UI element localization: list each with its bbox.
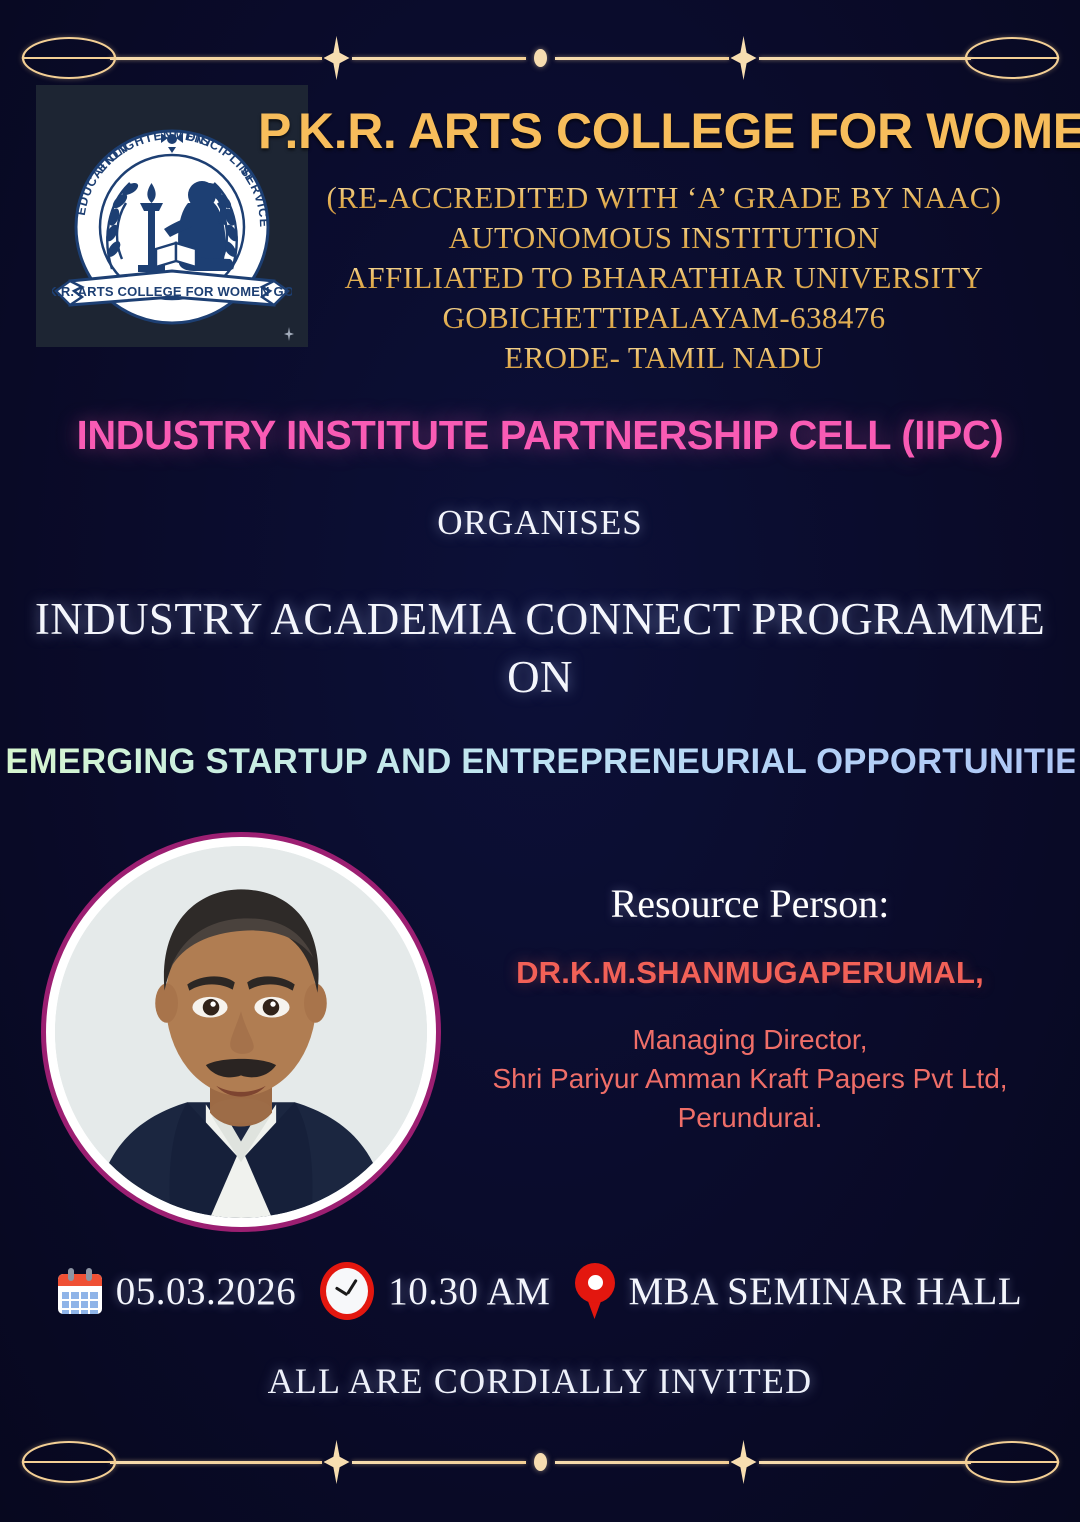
- resource-person-name: DR.K.M.SHANMUGAPERUMAL,: [460, 955, 1040, 991]
- resource-person-details: Managing Director, Shri Pariyur Amman Kr…: [452, 1020, 1048, 1137]
- portrait-illustration: [55, 846, 427, 1218]
- calendar-ring-right: [86, 1268, 92, 1281]
- college-subtitle-line: AUTONOMOUS INSTITUTION: [258, 218, 1070, 258]
- location-pin-icon: [575, 1263, 615, 1319]
- clock-icon: [320, 1262, 374, 1320]
- ornament-line: [759, 1461, 971, 1464]
- calendar-icon: [58, 1268, 102, 1314]
- bottom-ornament-divider: [0, 1432, 1080, 1492]
- event-date-item: 05.03.2026: [58, 1268, 297, 1314]
- ornament-line: [555, 57, 729, 60]
- programme-title-line1: INDUSTRY ACADEMIA CONNECT PROGRAMME: [0, 590, 1080, 648]
- college-subtitle-line: AFFILIATED TO BHARATHIAR UNIVERSITY: [258, 258, 1070, 298]
- ornament-leaf-icon: [964, 1441, 1058, 1483]
- ornament-line: [110, 1461, 322, 1464]
- invitation-text: ALL ARE CORDIALLY INVITED: [0, 1360, 1080, 1402]
- photo-white-ring: [46, 837, 436, 1227]
- avatar: [55, 846, 427, 1218]
- event-details-row: 05.03.2026 10.30 AM MBA SEMINAR HALL: [0, 1262, 1080, 1320]
- ornament-line: [555, 1461, 729, 1464]
- programme-topic: EMERGING STARTUP AND ENTREPRENEURIAL OPP…: [5, 742, 1074, 782]
- calendar-ring-left: [68, 1268, 74, 1281]
- svg-text:P.K.R. ARTS COLLEGE FOR WOMEN: P.K.R. ARTS COLLEGE FOR WOMEN GOBI: [52, 284, 292, 299]
- event-date: 05.03.2026: [116, 1269, 297, 1314]
- emblem-svg: EDUCATION ENLIGHTENMENT DISCIPLINE SERVI…: [52, 99, 292, 335]
- iipc-cell-name: INDUSTRY INSTITUTE PARTNERSHIP CELL (IIP…: [16, 412, 1064, 459]
- pin-center-dot: [588, 1275, 603, 1290]
- programme-title-line2: ON: [0, 648, 1080, 706]
- college-subtitle-line: GOBICHETTIPALAYAM-638476: [258, 298, 1070, 338]
- ornament-diamond-icon: [324, 1440, 350, 1484]
- ornament-diamond-icon: [731, 1440, 757, 1484]
- ornament-leaf-icon: [21, 37, 115, 79]
- ornament-leaf-icon: [964, 37, 1058, 79]
- event-poster: EDUCATION ENLIGHTENMENT DISCIPLINE SERVI…: [0, 0, 1080, 1522]
- organises-label: ORGANISES: [0, 503, 1080, 543]
- resource-person-designation: Managing Director,: [452, 1020, 1048, 1059]
- ornament-leaf-icon: [21, 1441, 115, 1483]
- ornament-line: [759, 57, 971, 60]
- event-time: 10.30 AM: [388, 1269, 550, 1314]
- resource-person-photo-frame: [41, 832, 441, 1232]
- ornament-line: [110, 57, 322, 60]
- ornament-line: [352, 1461, 526, 1464]
- college-subtitle-line: (RE-ACCREDITED WITH ‘A’ GRADE BY NAAC): [258, 178, 1070, 218]
- calendar-header-bar: [58, 1274, 102, 1286]
- poster-header: EDUCATION ENLIGHTENMENT DISCIPLINE SERVI…: [0, 84, 1080, 384]
- resource-person-organisation: Shri Pariyur Amman Kraft Papers Pvt Ltd,: [452, 1059, 1048, 1098]
- ornament-dot-icon: [534, 49, 547, 67]
- ornament-line: [352, 57, 526, 60]
- resource-person-label: Resource Person:: [460, 880, 1040, 927]
- calendar-body: [58, 1274, 102, 1314]
- event-time-item: 10.30 AM: [320, 1262, 550, 1320]
- college-emblem-icon: EDUCATION ENLIGHTENMENT DISCIPLINE SERVI…: [52, 99, 292, 340]
- programme-title: INDUSTRY ACADEMIA CONNECT PROGRAMME ON: [0, 590, 1080, 706]
- top-ornament-divider: [0, 28, 1080, 88]
- college-subtitle-block: (RE-ACCREDITED WITH ‘A’ GRADE BY NAAC) A…: [258, 178, 1070, 378]
- resource-person-place: Perundurai.: [452, 1098, 1048, 1137]
- college-subtitle-line: ERODE- TAMIL NADU: [258, 338, 1070, 378]
- event-venue: MBA SEMINAR HALL: [629, 1269, 1023, 1314]
- college-title: P.K.R. ARTS COLLEGE FOR WOMEN: [258, 102, 1070, 160]
- event-venue-item: MBA SEMINAR HALL: [575, 1263, 1023, 1319]
- ornament-dot-icon: [534, 1453, 547, 1471]
- ornament-diamond-icon: [731, 36, 757, 80]
- calendar-grid: [62, 1292, 98, 1314]
- ornament-diamond-icon: [324, 36, 350, 80]
